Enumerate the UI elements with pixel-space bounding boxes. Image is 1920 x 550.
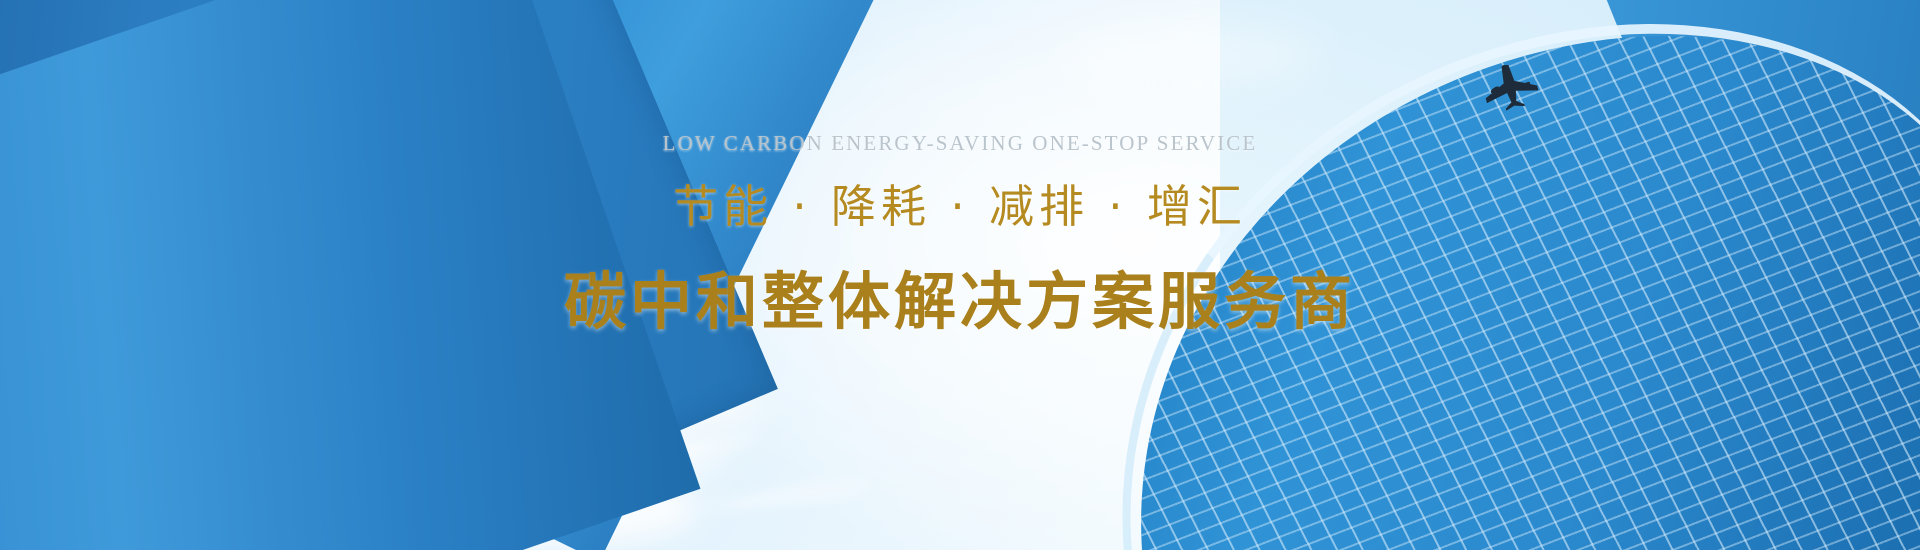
hero-banner: LOW CARBON ENERGY-SAVING ONE-STOP SERVIC… (0, 0, 1920, 550)
cloud-icon (1060, 25, 1320, 85)
